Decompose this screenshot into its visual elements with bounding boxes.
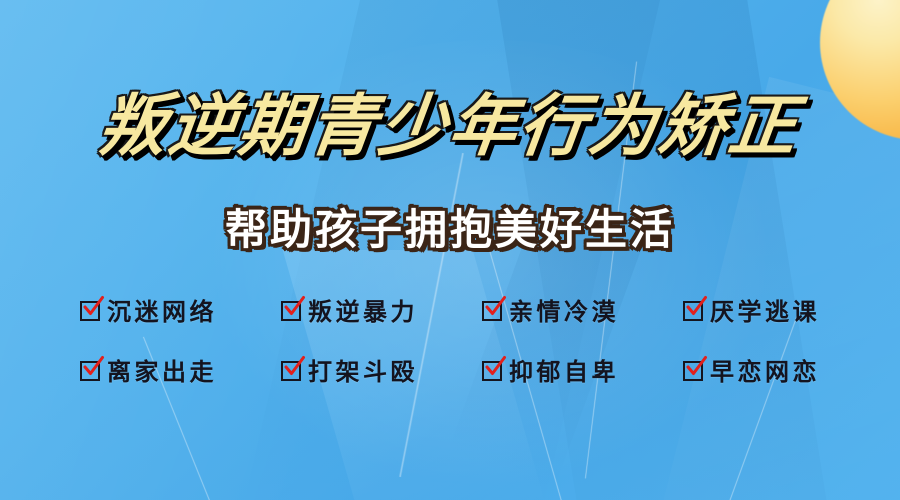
checked-checkbox-icon[interactable] [482,359,503,380]
checked-checkbox-icon[interactable] [683,359,704,380]
checklist-item[interactable]: 厌学逃课 [683,292,820,327]
checklist-item-label: 离家出走 [107,352,217,387]
issue-checklist: 沉迷网络 叛逆暴力 亲情冷漠 [80,292,820,412]
checked-checkbox-icon[interactable] [80,359,101,380]
checklist-item-label: 打架斗殴 [308,352,418,387]
checklist-item-label: 亲情冷漠 [509,292,619,327]
checked-checkbox-icon[interactable] [683,299,704,320]
checklist-item[interactable]: 离家出走 [80,352,217,387]
checklist-item-label: 厌学逃课 [710,292,820,327]
checked-checkbox-icon[interactable] [281,299,302,320]
checklist-row-2: 离家出走 打架斗殴 抑郁自卑 [80,352,820,387]
promo-banner: 叛逆期青少年行为矫正 帮助孩子拥抱美好生活 沉迷网络 叛逆暴力 [0,0,900,500]
checklist-item[interactable]: 早恋网恋 [683,352,820,387]
banner-subtitle: 帮助孩子拥抱美好生活 [225,196,675,257]
checked-checkbox-icon[interactable] [80,299,101,320]
checklist-item-label: 抑郁自卑 [509,352,619,387]
title-container: 叛逆期青少年行为矫正 [0,72,900,169]
checklist-item[interactable]: 叛逆暴力 [281,292,418,327]
checklist-item[interactable]: 亲情冷漠 [482,292,619,327]
checked-checkbox-icon[interactable] [281,359,302,380]
subtitle-container: 帮助孩子拥抱美好生活 [0,196,900,257]
checked-checkbox-icon[interactable] [482,299,503,320]
checklist-row-1: 沉迷网络 叛逆暴力 亲情冷漠 [80,292,820,327]
checklist-item[interactable]: 抑郁自卑 [482,352,619,387]
checklist-item-label: 叛逆暴力 [308,292,418,327]
checklist-item[interactable]: 沉迷网络 [80,292,217,327]
checklist-item-label: 早恋网恋 [710,352,820,387]
checklist-item[interactable]: 打架斗殴 [281,352,418,387]
checklist-item-label: 沉迷网络 [107,292,217,327]
banner-title: 叛逆期青少年行为矫正 [94,72,806,169]
